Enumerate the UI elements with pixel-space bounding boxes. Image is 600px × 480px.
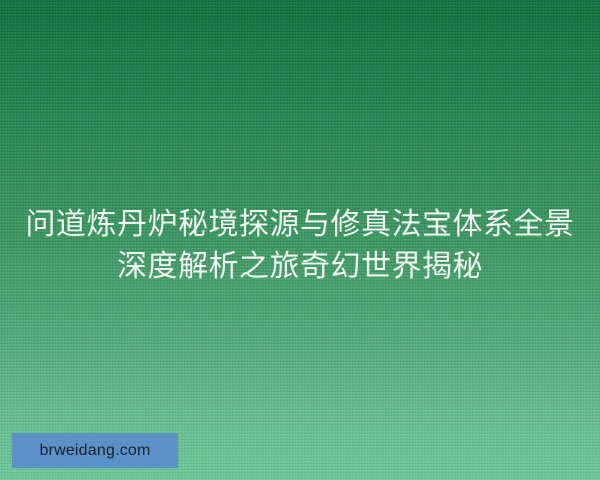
headline-line-1: 问道炼丹炉秘境探源与修真法宝体系全景	[0, 204, 600, 246]
headline-text-block: 问道炼丹炉秘境探源与修真法宝体系全景 深度解析之旅奇幻世界揭秘	[0, 204, 600, 288]
headline-line-2: 深度解析之旅奇幻世界揭秘	[0, 246, 600, 288]
banner-image: 问道炼丹炉秘境探源与修真法宝体系全景 深度解析之旅奇幻世界揭秘 brweidan…	[0, 0, 600, 480]
watermark-badge: brweidang.com	[12, 433, 178, 468]
watermark-label: brweidang.com	[39, 443, 150, 459]
